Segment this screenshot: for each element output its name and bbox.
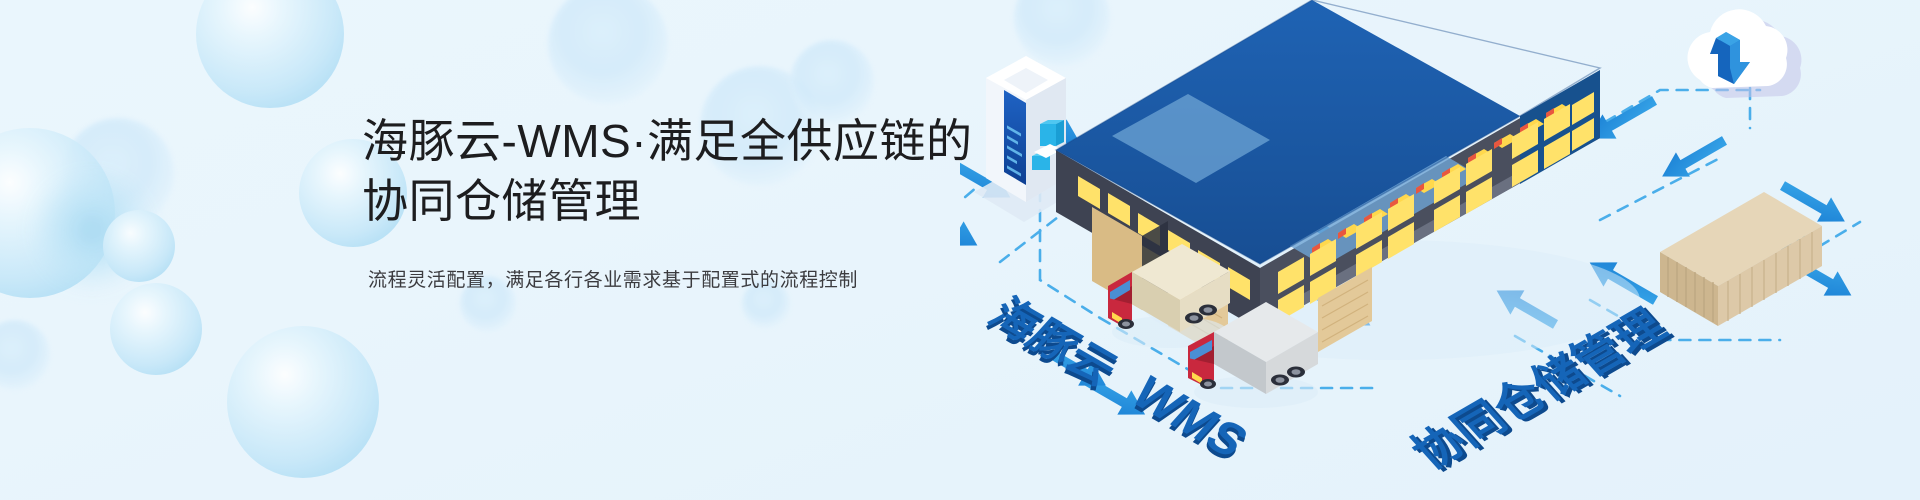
- bubble-decoration: [103, 210, 175, 282]
- bubble-decoration: [227, 326, 379, 478]
- bubble-decoration: [548, 0, 668, 104]
- bubble-decoration: [32, 170, 152, 290]
- warehouse-scene: 海豚云 海豚云 WMS WMS 协同仓储管理 协同仓储管理: [960, 0, 1920, 500]
- hero-banner: 海豚云-WMS·满足全供应链的 协同仓储管理 流程灵活配置，满足各行各业需求基于…: [0, 0, 1920, 500]
- bubble-decoration: [0, 128, 115, 298]
- bubble-decoration: [196, 0, 344, 108]
- cloud-download-icon: [1687, 9, 1801, 98]
- bubble-decoration: [0, 320, 50, 390]
- shipping-container-icon: [1660, 192, 1822, 326]
- bubble-decoration: [62, 118, 174, 230]
- warehouse-illustration: 海豚云 海豚云 WMS WMS 协同仓储管理 协同仓储管理: [960, 0, 1920, 500]
- bubble-decoration: [110, 283, 202, 375]
